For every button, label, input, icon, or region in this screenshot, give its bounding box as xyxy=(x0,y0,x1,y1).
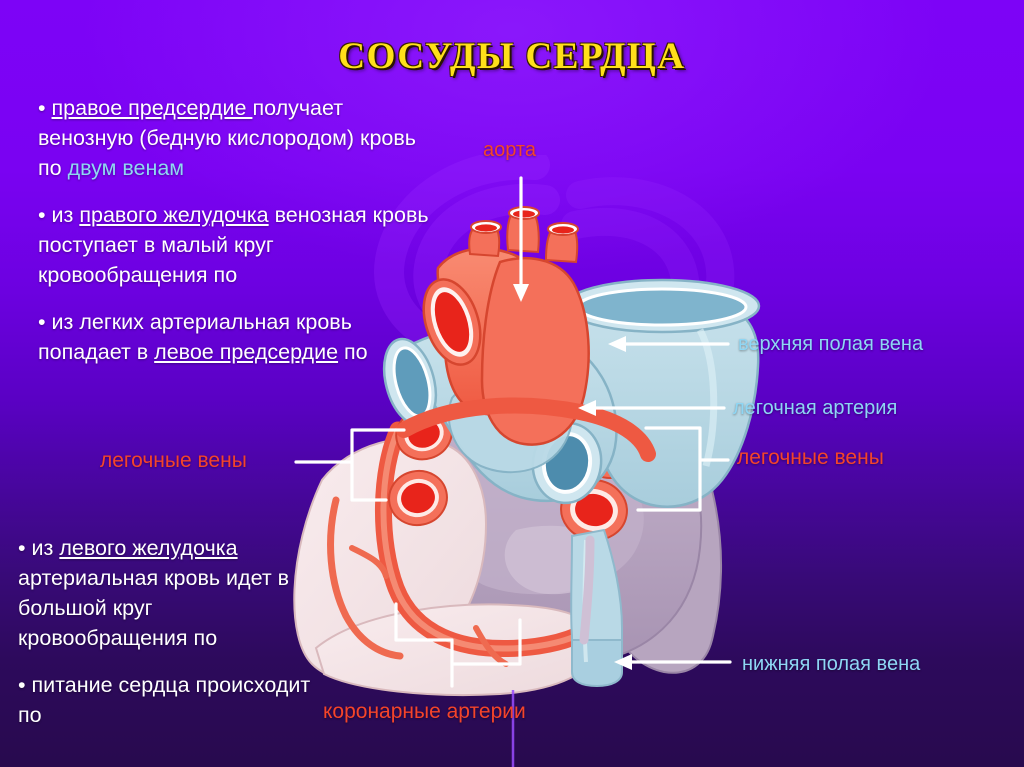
bullet-item-2: • из правого желудочка венозная кровь по… xyxy=(38,200,438,290)
slide-canvas: СОСУДЫ СЕРДЦА xyxy=(0,0,1024,767)
bullet-item-3: • из легких артериальная кровь попадает … xyxy=(38,307,438,367)
aortic-branch-middle xyxy=(507,207,539,252)
bullet-item-5: • питание сердца происходит по xyxy=(18,670,318,730)
aortic-branch-right xyxy=(546,223,578,262)
label-superior-vena-cava: верхняя полая вена xyxy=(738,333,923,356)
label-coronary-arteries: коронарные артерии xyxy=(323,700,526,724)
bullet-list-top: • правое предсердие получает венозную (б… xyxy=(38,93,438,384)
bullet-1-seg-2: двум венам xyxy=(68,156,185,180)
bullet-4-seg-2: артериальная кровь идет в большой круг к… xyxy=(18,566,289,650)
bullet-marker: • xyxy=(18,673,26,697)
label-pulmonary-artery: легочная артерия xyxy=(733,397,897,420)
bullet-marker: • xyxy=(38,96,46,120)
aortic-branch-left xyxy=(469,221,501,256)
bullet-3-seg-1: левое предсердие xyxy=(154,340,338,364)
bullet-4-seg-0: из xyxy=(32,536,60,560)
bullet-2-seg-1: правого желудочка xyxy=(79,203,268,227)
label-inferior-vena-cava: нижняя полая вена xyxy=(742,653,920,676)
bullet-item-1: • правое предсердие получает венозную (б… xyxy=(38,93,438,183)
bullet-4-seg-1: левого желудочка xyxy=(59,536,237,560)
bullet-marker: • xyxy=(38,310,46,334)
label-pulmonary-veins-left: легочные вены xyxy=(100,449,247,473)
bullet-5-seg-0: питание сердца происходит по xyxy=(18,673,310,727)
bullet-item-4: • из левого желудочка артериальная кровь… xyxy=(18,533,318,653)
label-pulmonary-veins-right: легочные вены xyxy=(737,446,884,470)
bullet-3-seg-2: по xyxy=(338,340,368,364)
bullet-marker: • xyxy=(18,536,26,560)
label-aorta: аорта xyxy=(483,139,536,162)
bullet-1-seg-0: правое предсердие xyxy=(52,96,253,120)
bullet-marker: • xyxy=(38,203,46,227)
bullet-2-seg-0: из xyxy=(52,203,80,227)
bullet-list-bottom: • из левого желудочка артериальная кровь… xyxy=(18,533,318,747)
